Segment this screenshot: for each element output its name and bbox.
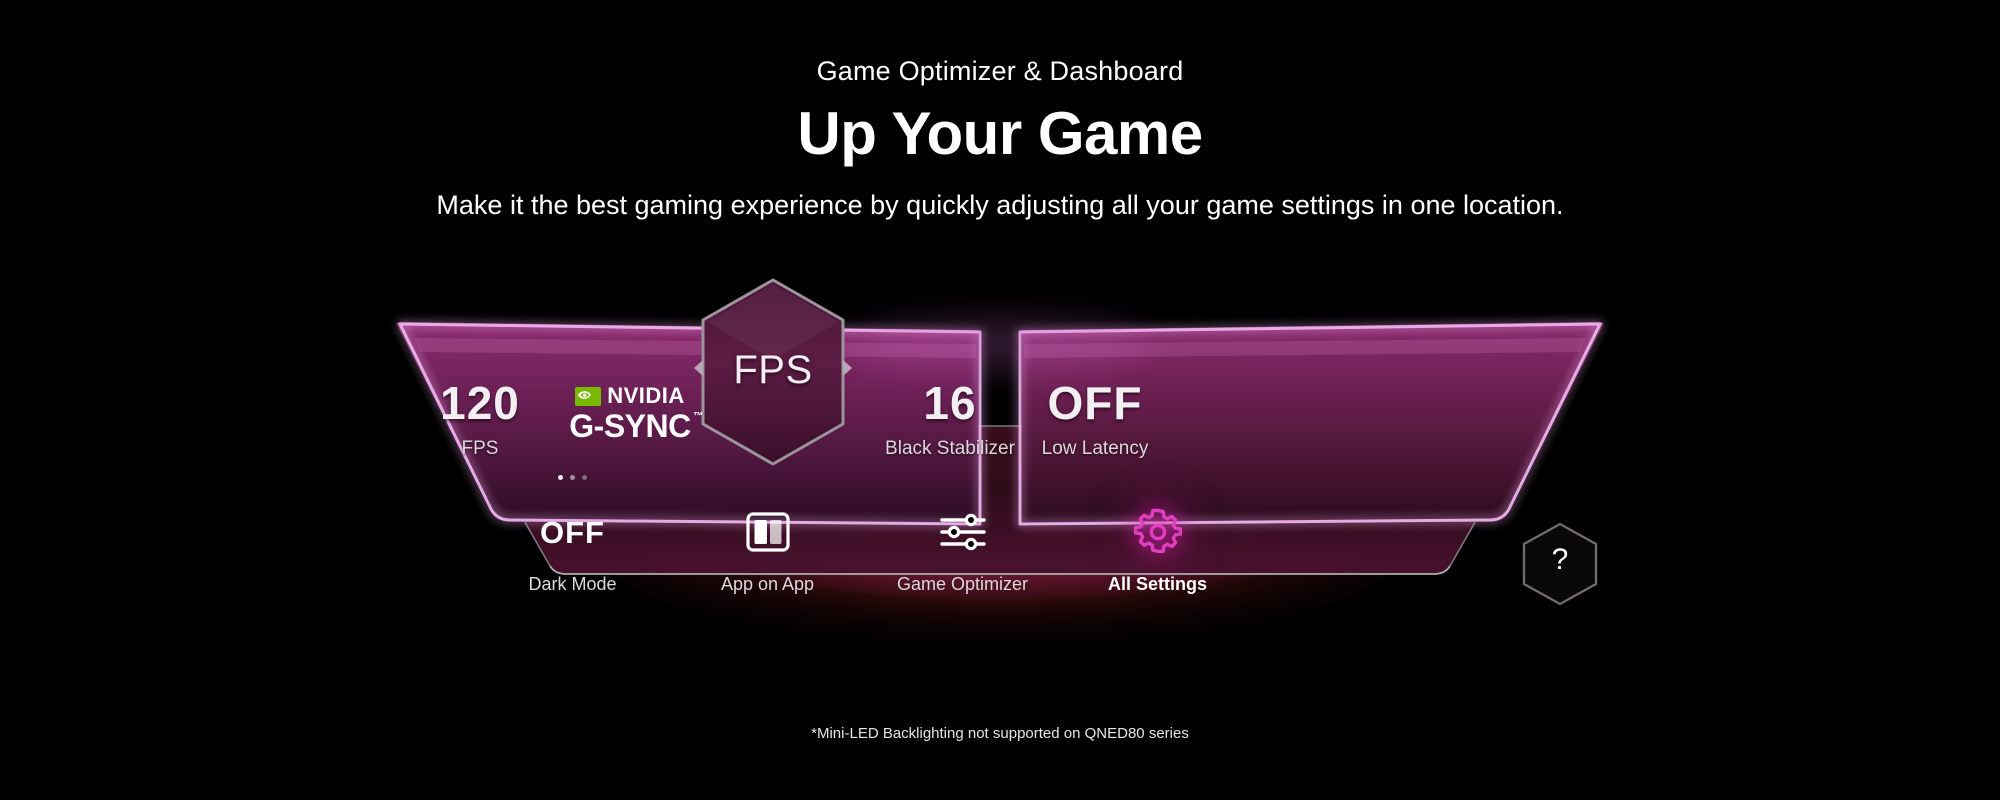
action-icon-slot-game-optimizer xyxy=(865,503,1060,561)
help-button[interactable]: ? xyxy=(1524,523,1596,605)
action-label-game-optimizer: Game Optimizer xyxy=(865,575,1060,593)
help-button-label: ? xyxy=(1524,545,1596,575)
action-game-optimizer[interactable]: Game Optimizer xyxy=(865,503,1060,593)
action-icon-slot-all-settings xyxy=(1060,503,1255,561)
pager-dots-icon xyxy=(475,475,670,480)
gsync-wordmark: G-SYNC ™ xyxy=(569,410,690,442)
eyebrow-text: Game Optimizer & Dashboard xyxy=(0,55,2000,87)
sliders-icon xyxy=(938,511,988,553)
hero-section: Game Optimizer & Dashboard Up Your Game … xyxy=(0,0,2000,223)
stat-caption-low-latency: Low Latency xyxy=(995,439,1195,458)
split-screen-icon xyxy=(745,511,791,553)
center-selector-label: FPS xyxy=(698,350,848,390)
gsync-wordmark-text: G-SYNC xyxy=(569,408,690,444)
dashboard-artwork xyxy=(380,318,1620,678)
action-all-settings[interactable]: All Settings xyxy=(1060,503,1255,593)
action-label-app-on-app: App on App xyxy=(670,575,865,593)
page-title: Up Your Game xyxy=(0,101,2000,167)
action-row: OFF Dark Mode App on App xyxy=(475,503,1525,593)
stat-value-low-latency: OFF xyxy=(995,380,1195,426)
stat-tile-low-latency[interactable]: OFF Low Latency xyxy=(995,380,1195,458)
action-value-slot-dark-mode: OFF xyxy=(475,503,670,561)
center-selector[interactable]: FPS xyxy=(698,278,848,468)
game-dashboard-widget: 120 FPS 16 Black Stabilizer OFF Low Late… xyxy=(380,318,1620,678)
nvidia-eye-icon xyxy=(575,387,601,406)
action-label-dark-mode: Dark Mode xyxy=(475,575,670,593)
subtitle-text: Make it the best gaming experience by qu… xyxy=(0,189,2000,223)
nvidia-gsync-badge: NVIDIA G-SYNC ™ xyxy=(540,384,720,442)
action-value-dark-mode: OFF xyxy=(540,517,605,548)
action-label-all-settings: All Settings xyxy=(1060,575,1255,593)
gear-icon xyxy=(1132,506,1184,558)
action-icon-slot-app-on-app xyxy=(670,503,865,561)
footnote-text: *Mini-LED Backlighting not supported on … xyxy=(0,726,2000,741)
nvidia-wordmark: NVIDIA xyxy=(607,385,685,407)
action-dark-mode[interactable]: OFF Dark Mode xyxy=(475,503,670,593)
action-app-on-app[interactable]: App on App xyxy=(670,503,865,593)
right-chevron-icon[interactable] xyxy=(843,360,852,376)
